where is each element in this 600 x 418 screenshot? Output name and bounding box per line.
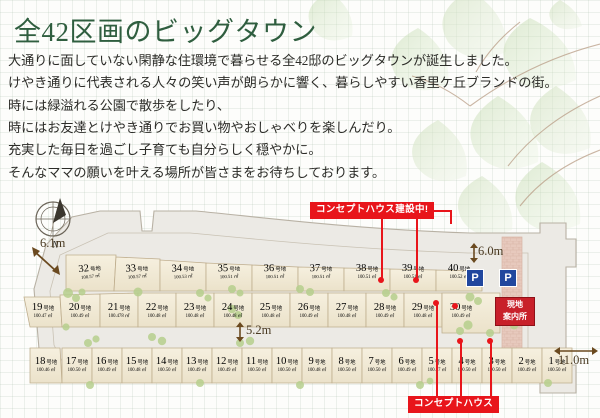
lot-number-20: 20 号地 — [60, 303, 100, 314]
lot-number-24: 24 号地 — [213, 303, 253, 314]
lot-number-36: 36 号地 — [255, 264, 295, 275]
lot-parcel-37[interactable]: 37 号地100.51 ㎡ — [301, 264, 341, 281]
site-plan-map: 32 号地100.57 ㎡33 号地100.57 ㎡34 号地100.53 ㎡3… — [0, 193, 600, 418]
lot-number-26: 26 号地 — [289, 303, 329, 314]
callout-bottom-leader-mid — [460, 340, 462, 397]
lot-parcel-22[interactable]: 22 号地100.48 ㎡ — [137, 303, 177, 319]
onsite-office-line-1: 現地 — [496, 299, 534, 311]
lot-parcel-26[interactable]: 26 号地100.49 ㎡ — [289, 303, 329, 319]
lot-number-19: 19 号地 — [23, 303, 63, 314]
callout-leader-bridge — [381, 217, 417, 219]
callout-dot-lot40 — [413, 277, 419, 283]
lot-area-19: 100.47 ㎡ — [23, 315, 63, 320]
lot-parcel-36[interactable]: 36 号地100.51 ㎡ — [255, 264, 295, 281]
lot-area-25: 100.48 ㎡ — [251, 315, 291, 320]
dimension-arrow-6-1m — [30, 247, 64, 275]
lot-parcel-23[interactable]: 23 号地100.48 ㎡ — [175, 303, 215, 319]
lot-parcel-30[interactable]: 30 号地100.49 ㎡ — [441, 303, 481, 319]
lot-parcel-33[interactable]: 33 号地100.57 ㎡ — [116, 263, 157, 282]
lot-area-27: 100.48 ㎡ — [327, 315, 367, 320]
callout-dot-lot29 — [433, 300, 439, 306]
callout-dot-lot3 — [487, 338, 493, 344]
lot-area-37: 100.51 ㎡ — [301, 275, 341, 280]
page-root: 全42区画のビッグタウン 大通りに面していない閑静な住環境で暮らせる全42邸のビ… — [0, 0, 600, 418]
lot-number-21: 21 号地 — [99, 303, 139, 314]
dimension-6-0m: 6.0m — [478, 244, 503, 259]
lot-parcel-28[interactable]: 28 号地100.49 ㎡ — [365, 303, 405, 319]
lot-area-28: 100.49 ㎡ — [365, 315, 405, 320]
lot-number-35: 35 号地 — [209, 263, 249, 275]
callout-bottom-leader-right — [490, 340, 492, 397]
callout-leader-vertical-b — [381, 217, 383, 279]
lot-number-27: 27 号地 — [327, 303, 367, 314]
intro-line-2: けやき通りに代表される人々の笑い声が朗らかに響く、暮らしやすい香里ケ丘ブランドの… — [8, 75, 598, 91]
callout-leader-horizontal — [430, 210, 452, 212]
intro-line-4: 時にはお友達とけやき通りでお買い物やおしゃべりを楽しんだり。 — [8, 120, 598, 136]
callout-concept-house[interactable]: コンセプトハウス — [408, 396, 499, 413]
intro-line-5: 充実した毎日を過ごし子育ても自分らしく穏やかに。 — [8, 142, 598, 158]
dimension-arrow-11-0m — [554, 345, 598, 357]
dimension-arrow-5-2m — [234, 322, 246, 342]
onsite-office-line-2: 案内所 — [496, 311, 534, 323]
intro-line-3: 時には緑溢れる公園で散歩をしたり、 — [8, 98, 598, 114]
intro-line-6: そんなママの願いを叶える場所が皆さまをお待ちしております。 — [8, 165, 598, 181]
lot-area-26: 100.49 ㎡ — [289, 315, 329, 320]
lot-number-30: 30 号地 — [441, 303, 481, 314]
lot-parcel-25[interactable]: 25 号地100.48 ㎡ — [251, 303, 291, 319]
lot-area-30: 100.49 ㎡ — [441, 315, 481, 320]
page-title: 全42区画のビッグタウン — [14, 10, 317, 49]
lot-area-22: 100.48 ㎡ — [137, 315, 177, 320]
lot-area-1: 100.50 ㎡ — [537, 369, 577, 374]
lot-number-37: 37 号地 — [301, 264, 341, 275]
dimension-5-2m: 5.2m — [246, 323, 271, 338]
lot-area-24: 100.48 ㎡ — [213, 315, 253, 320]
callout-bottom-leader-long — [436, 303, 438, 397]
lot-parcel-20[interactable]: 20 号地100.49 ㎡ — [60, 303, 100, 319]
callout-leader-vertical-a — [450, 210, 452, 224]
lot-area-20: 100.49 ㎡ — [60, 315, 100, 320]
lot-area-23: 100.48 ㎡ — [175, 315, 215, 320]
lot-number-25: 25 号地 — [251, 303, 291, 314]
parking-marker-2[interactable]: P — [499, 269, 517, 287]
callout-leader-vertical-c — [416, 217, 418, 279]
lot-parcel-21[interactable]: 21 号地100.478 ㎡ — [99, 303, 139, 319]
callout-dot-lot30 — [452, 303, 458, 309]
lot-number-39: 39 号地 — [393, 264, 433, 275]
lot-area-36: 100.51 ㎡ — [255, 275, 295, 280]
lot-number-28: 28 号地 — [365, 303, 405, 314]
callout-dot-lot4 — [457, 338, 463, 344]
lot-parcel-24[interactable]: 24 号地100.48 ㎡ — [213, 303, 253, 319]
lot-parcel-19[interactable]: 19 号地100.47 ㎡ — [23, 303, 63, 319]
lot-parcel-34[interactable]: 34 号地100.53 ㎡ — [163, 263, 204, 281]
lot-number-22: 22 号地 — [137, 303, 177, 314]
lot-number-34: 34 号地 — [163, 263, 203, 276]
onsite-office-marker[interactable]: 現地 案内所 — [495, 297, 535, 326]
lot-number-23: 23 号地 — [175, 303, 215, 314]
lot-area-21: 100.478 ㎡ — [99, 315, 139, 320]
intro-copy: 大通りに面していない閑静な住環境で暮らせる全42邸のビッグタウンが誕生しました。… — [8, 53, 598, 187]
lot-parcel-27[interactable]: 27 号地100.48 ㎡ — [327, 303, 367, 319]
lot-parcel-35[interactable]: 35 号地100.51 ㎡ — [209, 263, 250, 281]
callout-dot-lot39 — [378, 277, 384, 283]
parking-marker-1[interactable]: P — [466, 269, 484, 287]
dimension-arrow-6-0m — [468, 243, 480, 263]
intro-line-1: 大通りに面していない閑静な住環境で暮らせる全42邸のビッグタウンが誕生しました。 — [8, 53, 598, 69]
